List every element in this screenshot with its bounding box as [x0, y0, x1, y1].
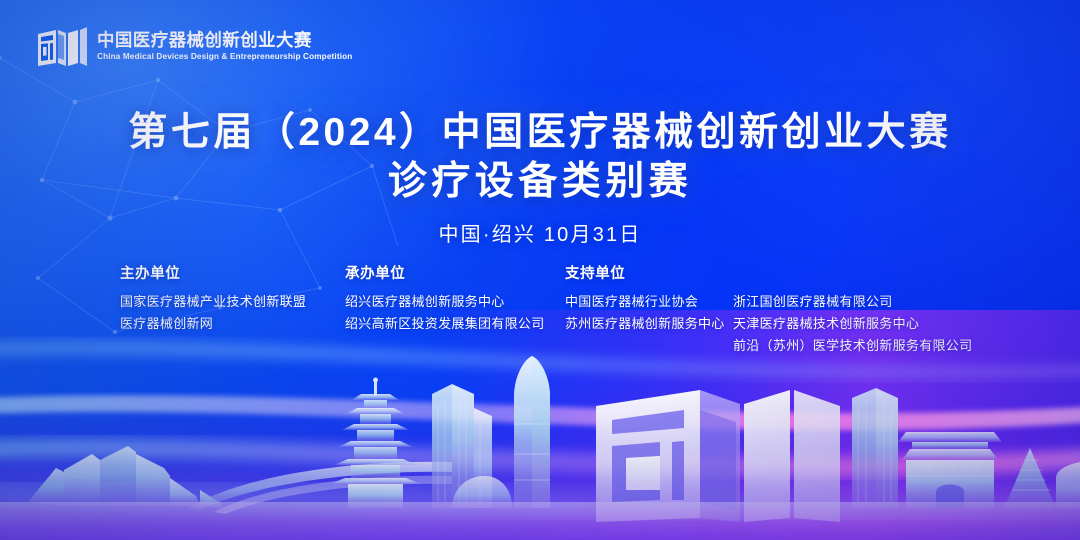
event-poster: 中国医疗器械创新创业大赛 China Medical Devices Desig… [0, 0, 1080, 540]
vignette-overlay [0, 0, 1080, 540]
